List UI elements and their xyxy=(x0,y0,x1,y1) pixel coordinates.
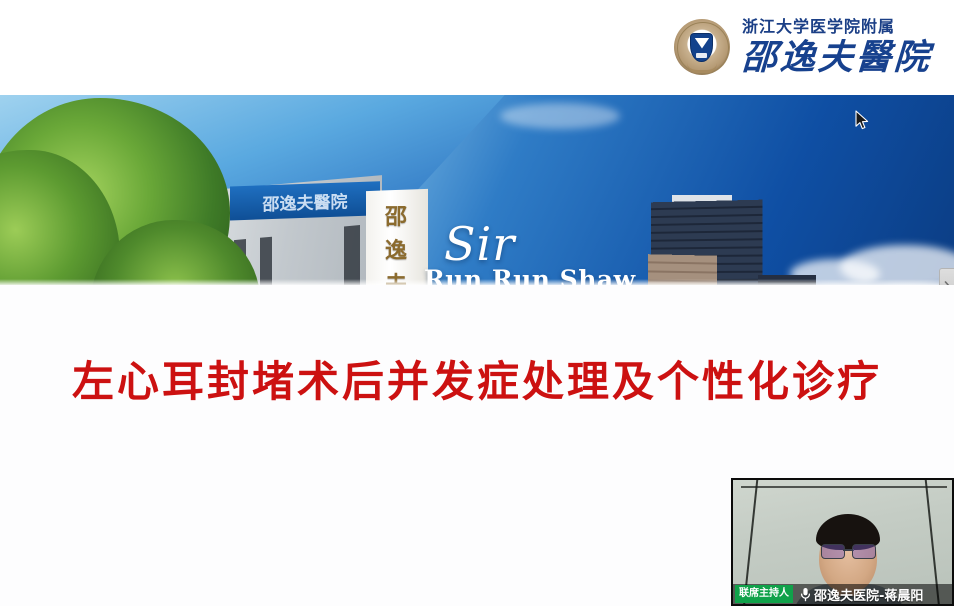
participant-label-bar: 联席主持人 邵逸夫医院-蒋晨阳 xyxy=(733,584,952,604)
status-badge: 联席主持人 xyxy=(735,585,793,603)
hospital-crest-icon xyxy=(674,19,730,75)
wall-char: 邵 xyxy=(385,199,407,231)
hero-image: 邵逸夫醫院 邵 逸 夫 醫 院 xyxy=(0,95,954,285)
page-title: 左心耳封堵术后并发症处理及个性化诊疗 xyxy=(0,348,954,409)
brand-name: 邵逸夫醫院 xyxy=(741,40,933,75)
cloud xyxy=(500,103,620,129)
participant-name: 邵逸夫医院-蒋晨阳 xyxy=(814,585,923,604)
brand-text: 浙江大学医学院附属 邵逸夫醫院 xyxy=(742,20,932,75)
window-column xyxy=(344,225,360,285)
webinar-page: 浙江大学医学院附属 邵逸夫醫院 邵逸夫醫院 xyxy=(0,0,954,606)
microphone-icon[interactable] xyxy=(800,587,811,602)
participant-video-thumbnail[interactable]: 联席主持人 邵逸夫医院-蒋晨阳 xyxy=(731,478,954,606)
foreground-tree xyxy=(0,190,270,285)
glasses-lens-left xyxy=(821,544,845,559)
wall-char: 逸 xyxy=(385,233,407,265)
participant-glasses xyxy=(821,544,876,557)
wall-vertical-characters: 邵 逸 夫 醫 院 xyxy=(376,199,416,285)
glasses-lens-right xyxy=(852,544,876,559)
hero-carousel[interactable]: 邵逸夫醫院 邵 逸 夫 醫 院 xyxy=(0,95,954,285)
site-header: 浙江大学医学院附属 邵逸夫醫院 xyxy=(0,0,954,95)
hospital-brand-lockup: 浙江大学医学院附属 邵逸夫醫院 xyxy=(674,19,932,75)
brand-affiliation: 浙江大学医学院附属 xyxy=(742,20,895,36)
whiteboard-edge xyxy=(741,486,947,488)
